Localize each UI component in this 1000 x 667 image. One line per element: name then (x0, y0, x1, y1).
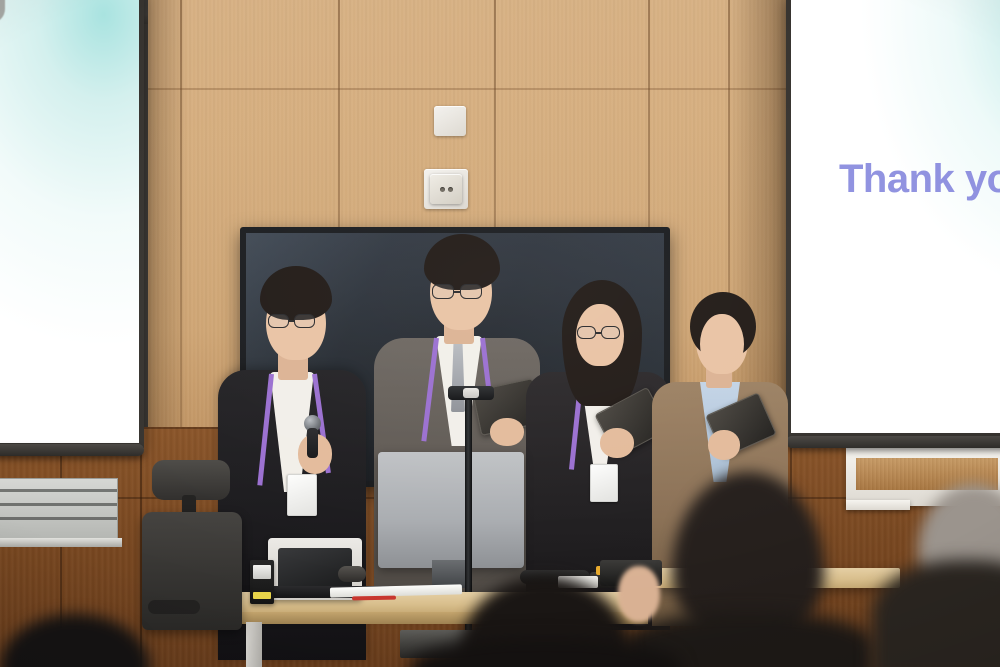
presenter-3-glasses-bridge (596, 332, 601, 334)
office-chair-arm (148, 600, 200, 614)
presenter-1-glasses-right (294, 314, 315, 328)
presenter-4-hand (708, 430, 740, 460)
left-screen-roller (0, 444, 144, 456)
wall-switch-plate[interactable] (434, 106, 466, 136)
handheld-microphone-body[interactable] (307, 428, 318, 458)
audio-meter-face (253, 565, 271, 579)
wall-grille (0, 478, 118, 540)
presenter-3-glasses-left (577, 326, 596, 339)
presenter-3-glasses-right (601, 326, 620, 339)
mouse-device[interactable] (338, 566, 366, 582)
desktop-monitor[interactable] (378, 452, 524, 568)
audience-raised-hand (618, 566, 660, 622)
presenter-1-name-badge (287, 474, 317, 516)
presenter-3-name-badge (590, 464, 618, 502)
red-pen[interactable] (352, 596, 396, 601)
left-screen-surface: Talking: (0, 0, 139, 443)
presenter-1-hair (260, 266, 332, 320)
presenter-3-hand (600, 428, 634, 458)
office-chair-headrest (152, 460, 230, 500)
stand-microphone-clip (463, 388, 479, 398)
presenter-2-glasses-right (460, 284, 482, 299)
audio-meter-label (253, 592, 271, 599)
right-screen-surface: Thank you (791, 0, 1000, 433)
talking-status-badge: Talking: (0, 0, 5, 23)
grille-sill (0, 538, 122, 547)
presenter-1-glasses-bridge (289, 320, 294, 322)
thank-you-headline: Thank you (839, 157, 1000, 202)
right-projection-screen: Thank you (786, 0, 1000, 438)
presenter-2-hand (490, 418, 524, 446)
left-projection-screen: Talking: (0, 0, 144, 448)
presenter-1-glasses-left (268, 314, 289, 328)
presenter-2-glasses-bridge (454, 291, 460, 293)
presenter-2-glasses-left (432, 284, 454, 299)
audio-meter-device[interactable] (250, 560, 274, 604)
classroom-presentation-photo: Talking: (0, 0, 1000, 667)
right-screen-roller (786, 436, 1000, 448)
wall-socket-plate[interactable] (424, 169, 468, 209)
presenter-4-face (700, 314, 744, 372)
desk-leg-left (246, 622, 262, 667)
cabinet-sill (846, 500, 910, 510)
